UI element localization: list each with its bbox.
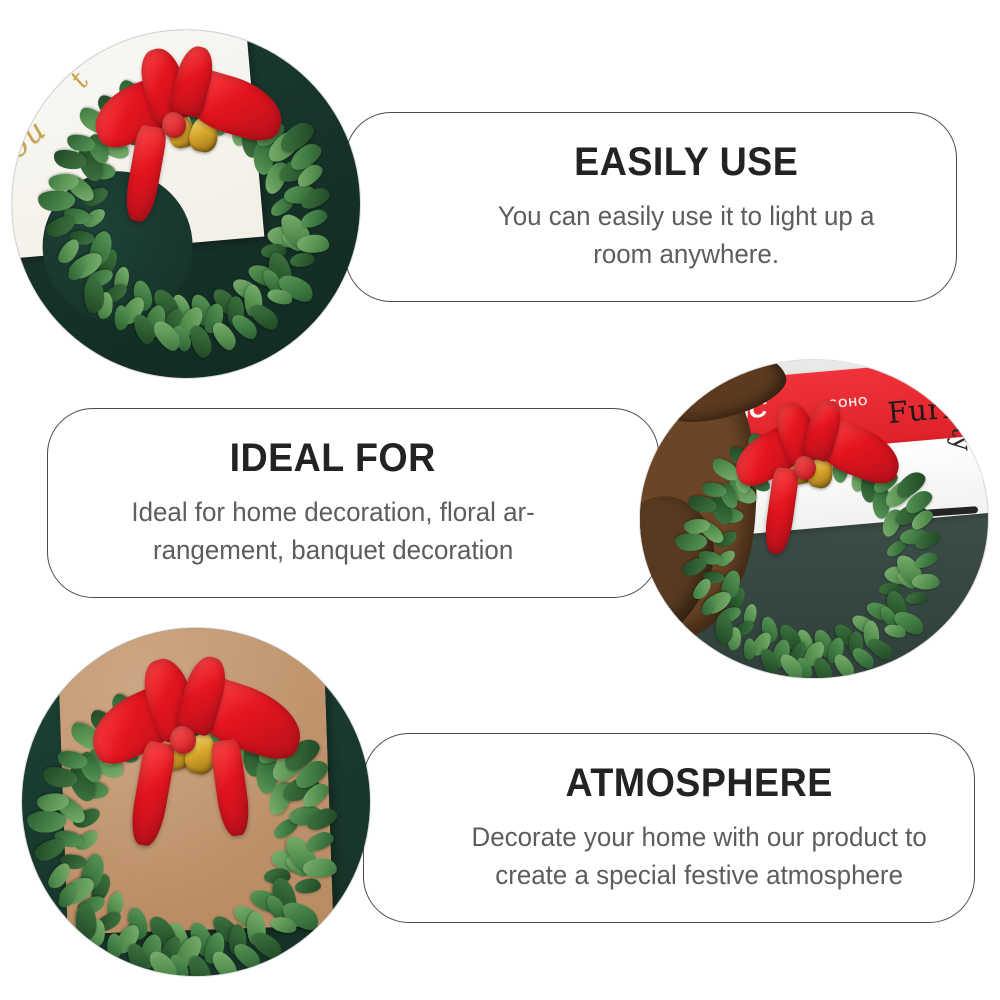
feature-photo-wreath-on-kraft-paper [22,628,370,976]
feature-title-atmosphere: ATMOSPHERE [565,762,832,804]
feature-card-atmosphere: ATMOSPHERE Decorate your home with our p… [363,733,975,923]
feature-body-line-1: Decorate your home with our product to [471,822,926,852]
feature-body-line-2: create a special festive atmosphere [495,860,903,890]
photo-background-dark-green: you t [12,30,360,378]
feature-card-ideal-for: IDEAL FOR Ideal for home decoration, flo… [47,408,659,598]
feature-card-easily-use: EASILY USE You can easily use it to ligh… [345,112,957,302]
feature-body-line-2: room anywhere. [593,239,779,269]
bow-knot [794,456,816,480]
wreath-artwork [60,700,312,952]
feature-body-line-2: rangement, banquet decoration [153,535,513,565]
photo-background-desk: SOHC SOHO Furnitu berty [640,360,988,678]
feature-title-easily-use: EASILY USE [574,141,798,183]
feature-body-line-1: Ideal for home decoration, floral ar- [131,497,534,527]
greeting-card-script-you: you [12,112,54,178]
wreath-artwork [70,86,306,322]
feature-body-easily-use: You can easily use it to light up aroom … [498,197,875,274]
feature-title-ideal-for: IDEAL FOR [230,437,436,479]
bow-knot [170,726,196,754]
photo-background-dark-green [22,628,370,976]
feature-body-ideal-for: Ideal for home decoration, floral ar-ran… [131,493,534,570]
feature-photo-wreath-on-greeting-card: you t [12,30,360,378]
bow-knot [162,112,186,138]
feature-body-line-1: You can easily use it to light up a [498,201,875,231]
wreath-artwork [702,436,920,654]
feature-photo-wreath-with-driftwood: SOHC SOHO Furnitu berty [640,360,988,678]
feature-body-atmosphere: Decorate your home with our product tocr… [471,818,926,895]
